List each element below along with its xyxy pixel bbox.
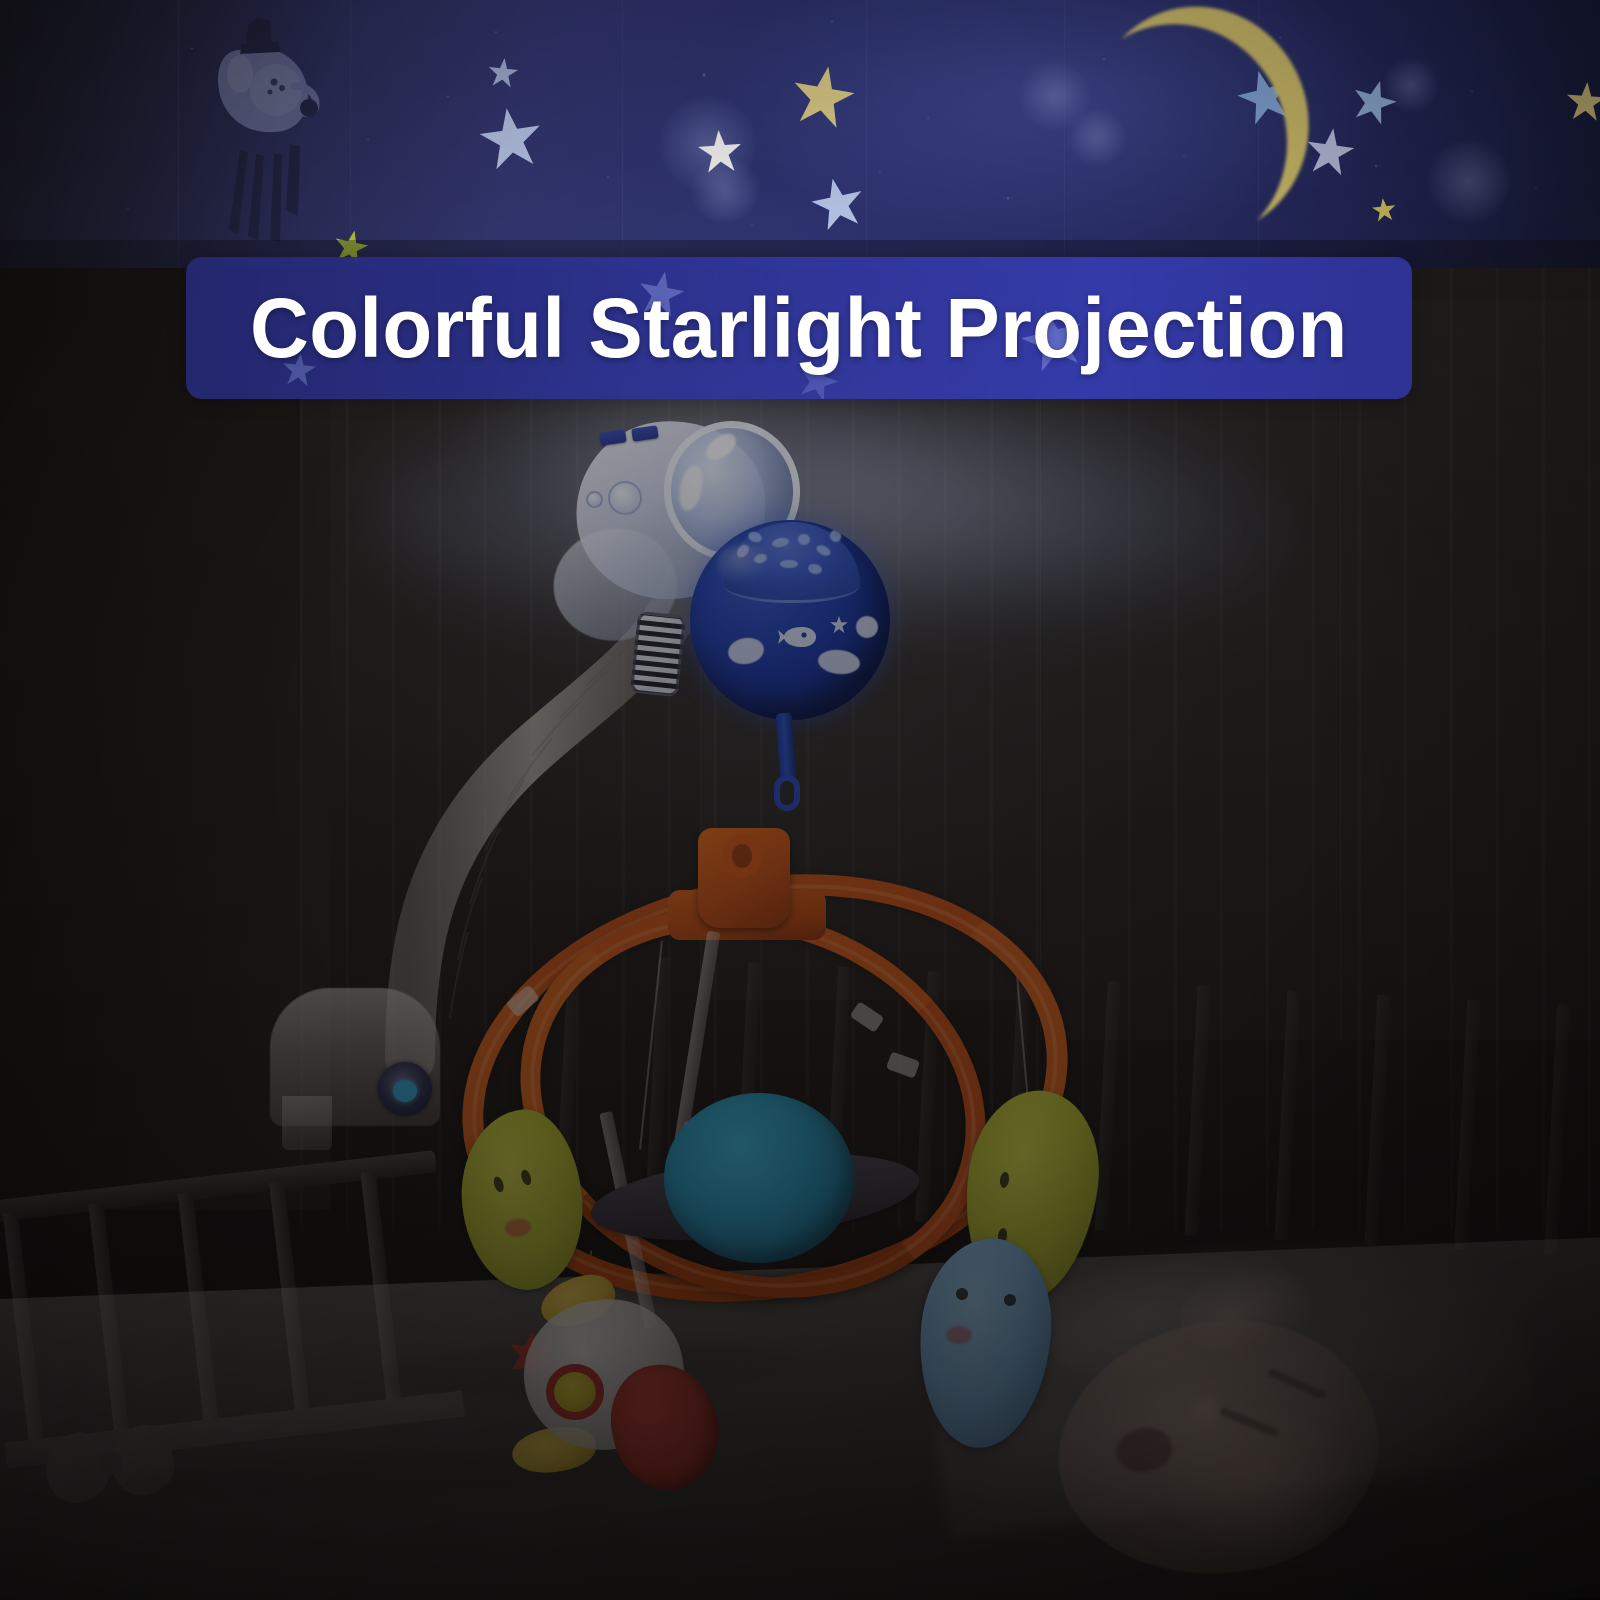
- ceiling-seam: [1064, 0, 1065, 268]
- mobile-clamp-foot: [282, 1096, 332, 1150]
- control-knob[interactable]: [608, 481, 642, 515]
- ceiling-seam: [866, 0, 867, 268]
- product-lifestyle-image: Colorful Starlight Projection: [0, 0, 1600, 1600]
- ceiling-seam: [178, 0, 179, 268]
- light-bloom: [1428, 140, 1510, 222]
- control-knob-small[interactable]: [586, 491, 603, 508]
- mobile-hub-hook: [722, 834, 762, 878]
- page-title: Colorful Starlight Projection: [250, 286, 1348, 370]
- ceiling-star-projection: [0, 0, 1600, 268]
- star-cutout: [830, 616, 848, 634]
- light-bloom: [1384, 58, 1438, 112]
- plush-eye: [1004, 1294, 1016, 1306]
- ball-highlight: [716, 544, 772, 584]
- rocket-window: [546, 1364, 604, 1420]
- mobile-ring-assembly[interactable]: [400, 820, 1120, 1340]
- ceiling-seam: [622, 0, 623, 268]
- projector-ball[interactable]: [690, 520, 890, 720]
- headline-banner: Colorful Starlight Projection: [186, 257, 1412, 399]
- plush-eye: [956, 1288, 968, 1300]
- elephant-projection-icon: [196, 4, 356, 254]
- plush-eye: [519, 1168, 533, 1186]
- plush-eye: [492, 1175, 506, 1193]
- planet-cutout: [856, 616, 878, 638]
- projector-stem: [776, 713, 797, 782]
- rocket-plush: [488, 1272, 718, 1502]
- plush-blush: [946, 1326, 972, 1344]
- starlight-projector-assembly[interactable]: [530, 395, 950, 865]
- rocket-cutout-icon: [778, 626, 818, 648]
- saturn-plush: [590, 1085, 920, 1285]
- planet-cutout: [817, 648, 861, 676]
- plush-blush: [504, 1217, 532, 1238]
- saturn-body: [664, 1093, 854, 1263]
- planet-cutout: [726, 635, 766, 667]
- light-bloom: [690, 160, 760, 222]
- wall-panel-c: [1340, 300, 1600, 1040]
- projector-hook: [774, 775, 800, 811]
- speaker-grille: [630, 611, 686, 698]
